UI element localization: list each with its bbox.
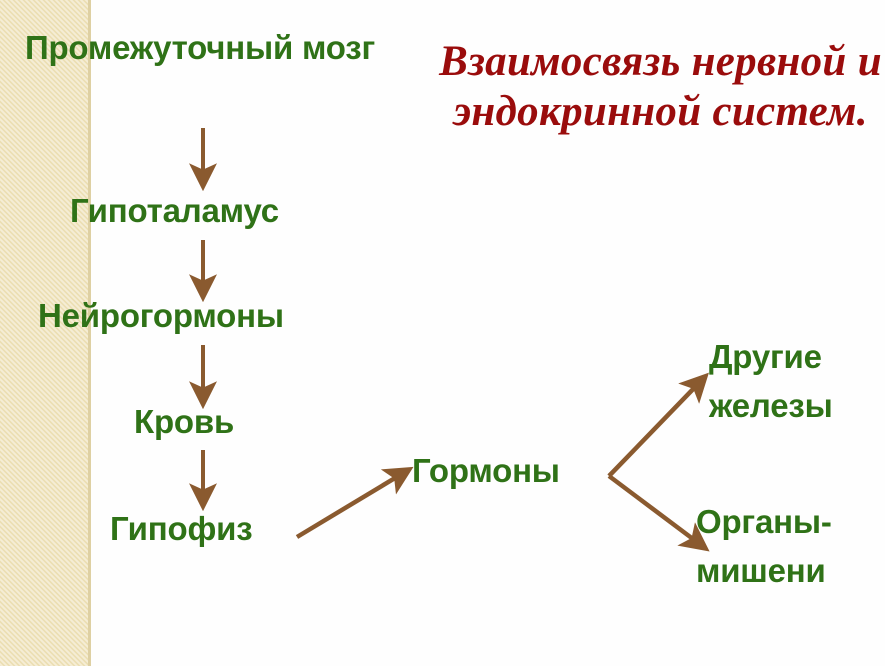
node-blood: Кровь	[134, 403, 234, 442]
node-target-organs: Органы-мишени	[696, 498, 885, 596]
arrow-hormones-to-target-organs	[609, 476, 697, 542]
arrow-hypophysis-to-hormones	[297, 475, 400, 537]
node-other-glands: Другие железы	[709, 333, 884, 431]
node-hypophysis: Гипофиз	[110, 505, 280, 553]
slide-canvas: Взаимосвязь нервной и эндокринной систем…	[0, 0, 885, 666]
node-hypothalamus: Гипоталамус	[70, 192, 279, 231]
node-hormones: Гормоны	[412, 452, 560, 491]
node-neurohormones: Нейрогормоны	[38, 297, 284, 336]
page-title: Взаимосвязь нервной и эндокринной систем…	[438, 37, 883, 138]
node-diencephalon: Промежуточный мозг	[24, 24, 376, 72]
arrow-hormones-to-other-glands	[609, 384, 698, 476]
